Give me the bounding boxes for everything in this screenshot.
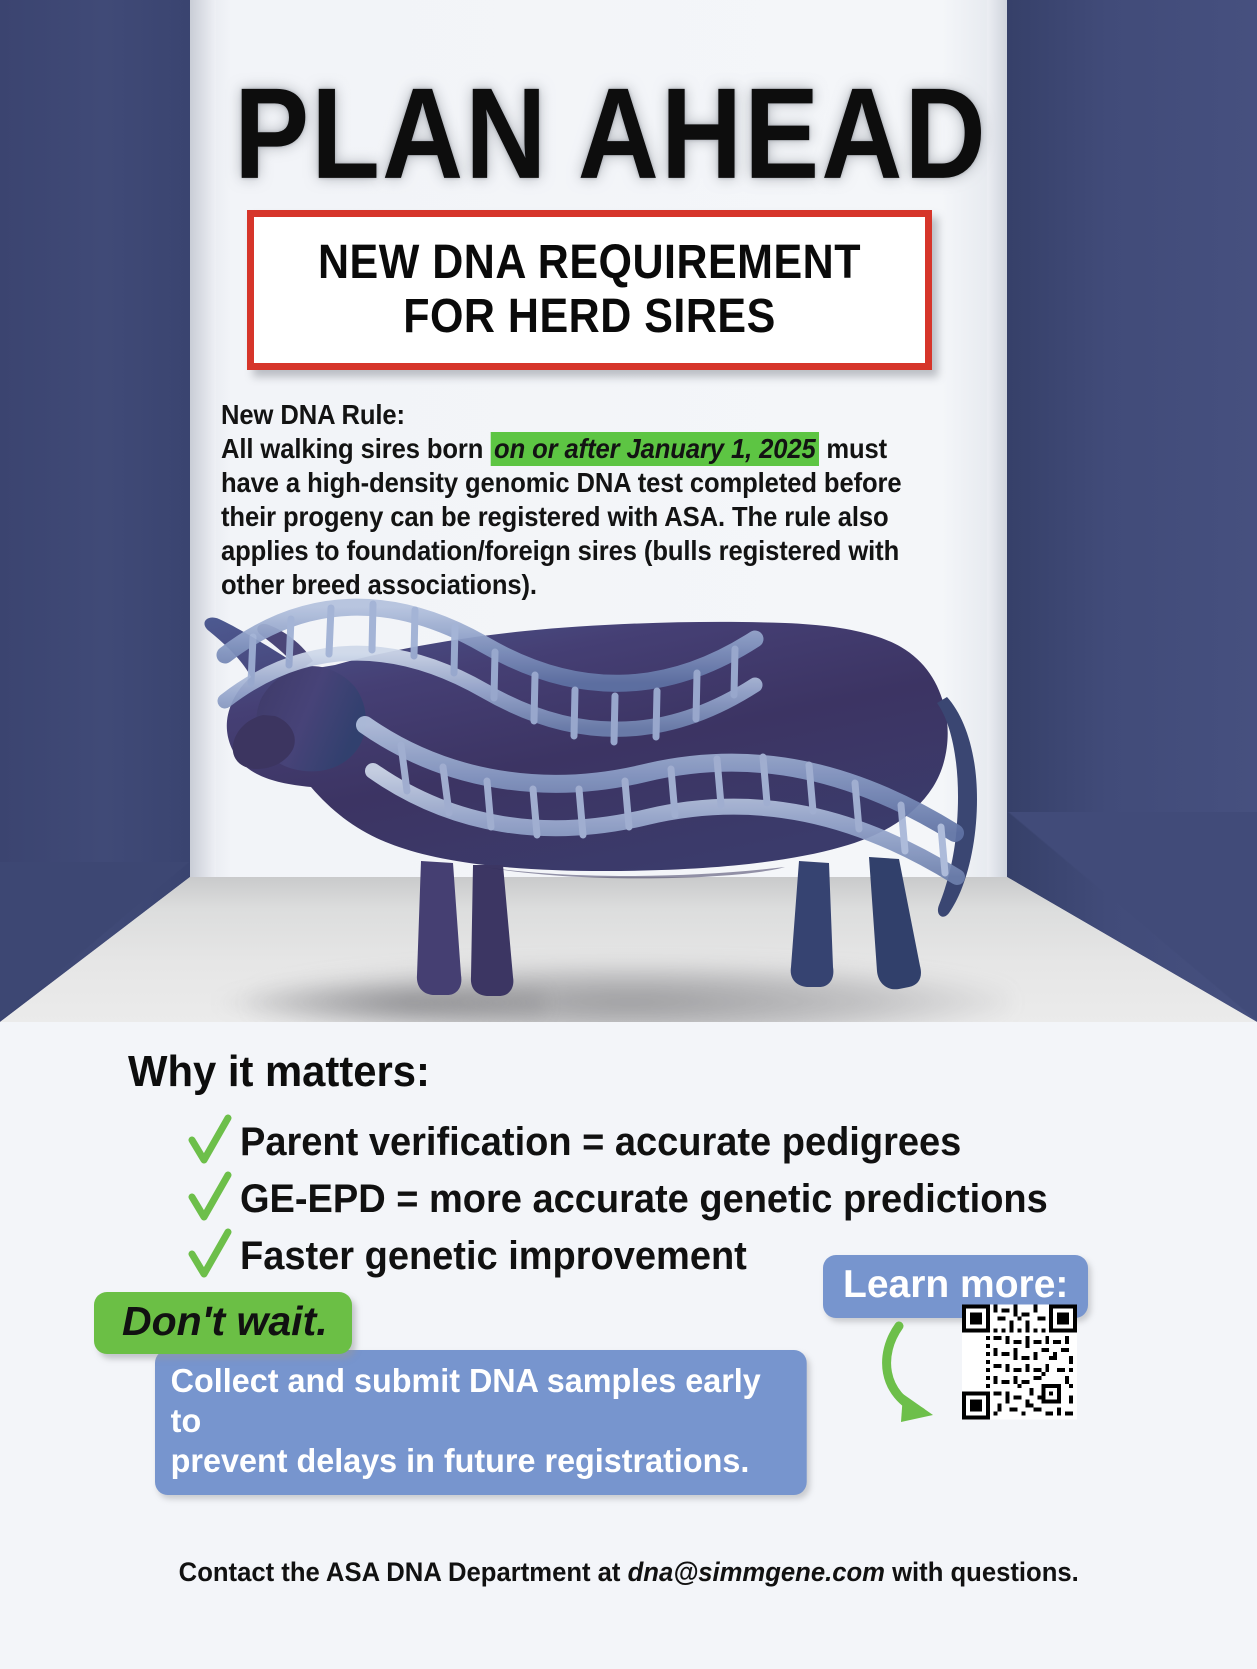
red-box-line-2: FOR HERD SIRES [254,286,925,346]
rule-title: New DNA Rule: [221,398,942,432]
left-wall [0,0,190,1022]
rule-text-before: All walking sires born [221,433,490,464]
contact-email[interactable]: dna@simmgene.com [627,1557,884,1587]
contact-line: Contact the ASA DNA Department at dna@si… [0,1555,1257,1589]
check-icon [186,1228,234,1280]
new-dna-rule-block: New DNA Rule: All walking sires born on … [221,398,942,602]
qr-code[interactable] [962,1302,1077,1422]
contact-before: Contact the ASA DNA Department at [178,1557,627,1587]
collect-line-1: Collect and submit DNA samples early to [171,1361,789,1441]
dna-helix-illustration [195,575,1015,905]
list-item-label: Faster genetic improvement [240,1233,747,1279]
list-item: GE-EPD = more accurate genetic predictio… [186,1170,1086,1227]
dont-wait-badge: Don't wait. [94,1292,352,1354]
poster: PLAN AHEAD NEW DNA REQUIREMENT FOR HERD … [0,0,1257,1669]
list-item: Parent verification = accurate pedigrees [186,1113,1086,1170]
check-icon [186,1114,234,1166]
red-callout-box: NEW DNA REQUIREMENT FOR HERD SIRES [247,210,932,370]
check-icon [186,1171,234,1223]
list-item-label: GE-EPD = more accurate genetic predictio… [240,1176,1048,1222]
contact-after: with questions. [885,1557,1079,1587]
rule-date-highlight: on or after January 1, 2025 [490,432,819,466]
red-box-line-1: NEW DNA REQUIREMENT [254,232,925,292]
right-wall [1007,0,1257,1022]
collect-samples-callout: Collect and submit DNA samples early to … [155,1350,807,1495]
page-title: PLAN AHEAD [192,62,1029,221]
collect-line-2: prevent delays in future registrations. [171,1441,789,1481]
why-it-matters-heading: Why it matters: [128,1047,430,1097]
list-item-label: Parent verification = accurate pedigrees [240,1119,961,1165]
bull-dna-artwork [185,575,1005,1022]
